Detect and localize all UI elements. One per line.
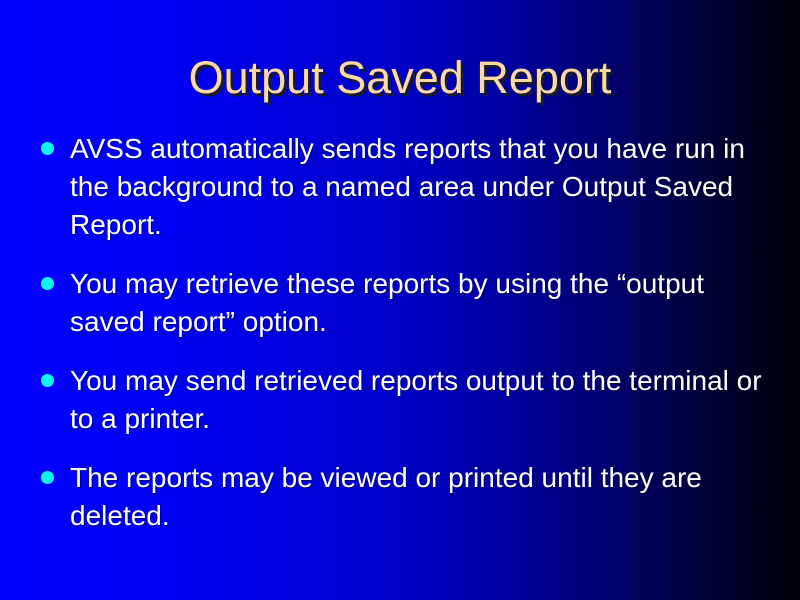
list-item: The reports may be viewed or printed unt…: [38, 459, 762, 535]
bullet-dot-icon: [41, 277, 54, 290]
bullet-text: AVSS automatically sends reports that yo…: [70, 130, 762, 244]
list-item: You may retrieve these reports by using …: [38, 265, 762, 341]
bullet-dot-icon: [41, 142, 54, 155]
list-item: AVSS automatically sends reports that yo…: [38, 130, 762, 244]
presentation-slide: Output Saved Report AVSS automatically s…: [0, 0, 800, 600]
bullet-text: You may retrieve these reports by using …: [70, 265, 762, 341]
bullet-dot-icon: [41, 374, 54, 387]
bullet-dot-icon: [41, 471, 54, 484]
bullet-text: You may send retrieved reports output to…: [70, 362, 762, 438]
bullet-list: AVSS automatically sends reports that yo…: [38, 130, 762, 535]
bullet-text: The reports may be viewed or printed unt…: [70, 459, 762, 535]
page-title: Output Saved Report: [0, 52, 800, 104]
list-item: You may send retrieved reports output to…: [38, 362, 762, 438]
